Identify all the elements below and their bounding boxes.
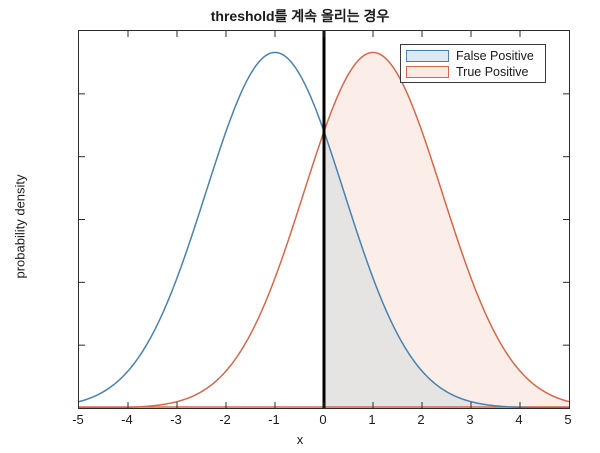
x-tick-label: 2 xyxy=(401,412,441,427)
legend-item-false-positive[interactable]: False Positive xyxy=(406,48,540,64)
plot-area xyxy=(78,30,570,409)
figure-canvas: threshold를 계속 올리는 경우 probability density… xyxy=(0,0,600,453)
x-tick-label: -4 xyxy=(107,412,147,427)
legend-swatch-false-positive xyxy=(406,50,449,62)
legend[interactable]: False Positive True Positive xyxy=(400,44,546,83)
y-axis-label: probability density xyxy=(13,127,28,327)
x-tick-label: 3 xyxy=(450,412,490,427)
legend-swatch-true-positive xyxy=(406,66,449,78)
x-tick-label: -1 xyxy=(254,412,294,427)
x-tick-label: -2 xyxy=(205,412,245,427)
x-axis-label: x xyxy=(0,432,600,447)
legend-label-false-positive: False Positive xyxy=(456,50,534,62)
legend-item-true-positive[interactable]: True Positive xyxy=(406,64,540,80)
x-tick-label: 5 xyxy=(548,412,588,427)
x-tick-label: -3 xyxy=(156,412,196,427)
legend-label-true-positive: True Positive xyxy=(456,66,528,78)
x-tick-label: 4 xyxy=(499,412,539,427)
plot-svg xyxy=(79,31,569,408)
x-tick-label: 0 xyxy=(303,412,343,427)
x-tick-label: 1 xyxy=(352,412,392,427)
chart-title: threshold를 계속 올리는 경우 xyxy=(0,6,600,26)
x-tick-label: -5 xyxy=(58,412,98,427)
